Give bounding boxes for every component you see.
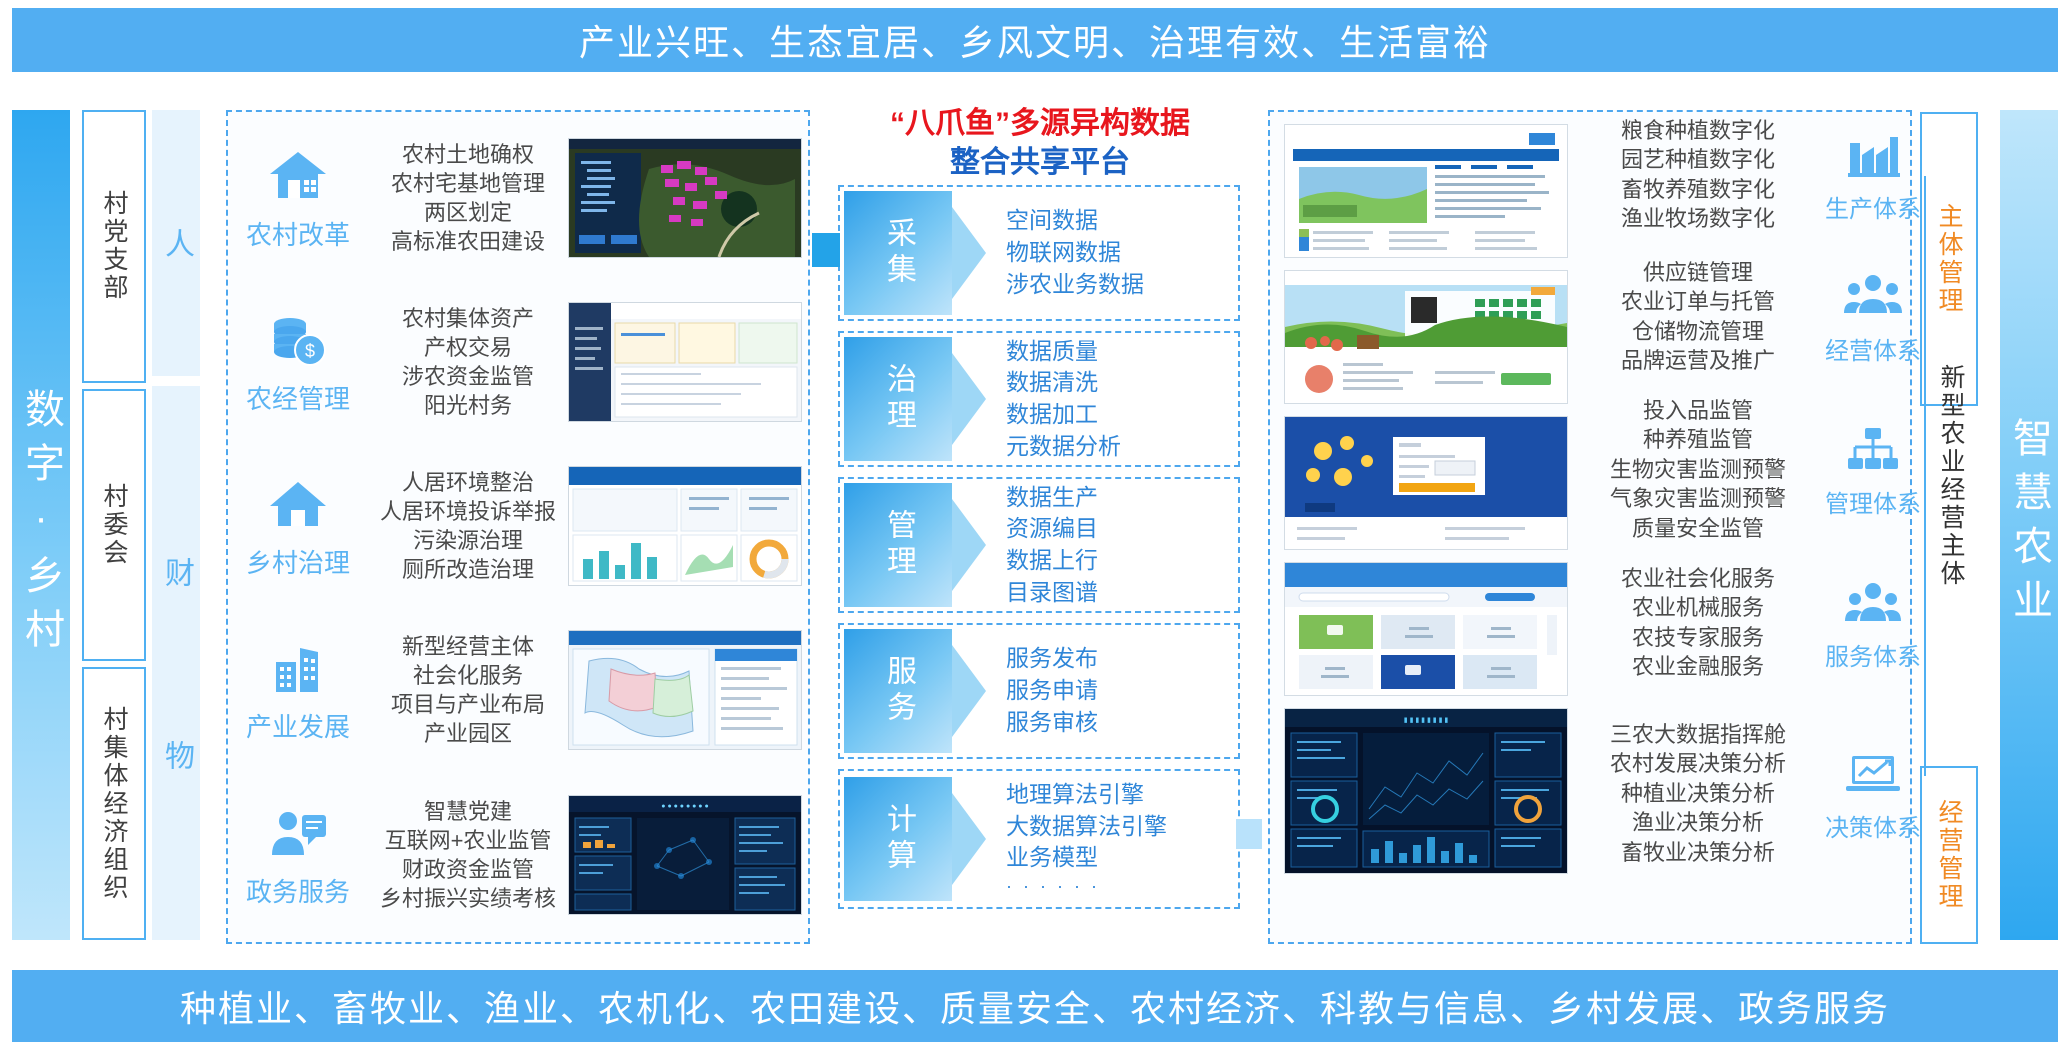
center-platform-panel: 采集 空间数据 物联网数据 涉农业务数据 治理 数据质量 数据清洗 数据加工 元… [838, 185, 1240, 940]
bullet-item: 智慧党建 [368, 797, 568, 826]
people-group-icon [1844, 267, 1902, 325]
svg-text:$: $ [305, 341, 315, 361]
bullet-item: 污染源治理 [368, 526, 568, 555]
row-caption: 乡村治理 [246, 543, 350, 580]
system-text: 三农大数据指挥舱 [1578, 720, 1818, 749]
bullet-item: 项目与产业布局 [368, 690, 568, 719]
system-text: 生物灾害监测预警 [1578, 455, 1818, 484]
bullet-item: 人居环境投诉举报 [368, 497, 568, 526]
stage-item: 数据生产 [1006, 482, 1098, 514]
row-icon-block: 农村改革 [228, 145, 368, 252]
stage-item: 目录图谱 [1006, 577, 1098, 609]
system-text: 农村发展决策分析 [1578, 749, 1818, 778]
row-bullets: 新型经营主体 社会化服务 项目与产业布局 产业园区 [368, 632, 568, 748]
bullet-item: 财政资金监管 [368, 855, 568, 884]
svg-text:▮ ▮ ▮ ▮ ▮ ▮ ▮ ▮: ▮ ▮ ▮ ▮ ▮ ▮ ▮ ▮ [1404, 717, 1449, 724]
bullet-item: 社会化服务 [368, 661, 568, 690]
bullet-item: 互联网+农业监管 [368, 826, 568, 855]
screenshot-big-data-command-dashboard[interactable]: ▮ ▮ ▮ ▮ ▮ ▮ ▮ ▮ [1284, 708, 1568, 874]
bullet-item: 厕所改造治理 [368, 555, 568, 584]
resource-label-finance-assets: 财 物 [152, 386, 200, 940]
stage-item: 地理算法引擎 [1006, 779, 1167, 811]
right-spine-bar: 智慧农业 [2000, 110, 2058, 940]
stage-item: 物联网数据 [1006, 237, 1144, 269]
system-text: 畜牧养殖数字化 [1578, 175, 1818, 204]
stage-chevron: 服务 [844, 629, 952, 753]
screenshot-party-building-dark-dashboard[interactable]: ● ● ● ● ● ● ● ● [568, 795, 802, 915]
system-group-texts: 农业社会化服务 农业机械服务 农技专家服务 农业金融服务 [1578, 564, 1818, 682]
stage-item: 服务发布 [1006, 643, 1098, 675]
buildings-industry-icon [266, 637, 330, 699]
laptop-chart-icon [1844, 744, 1902, 802]
stage-item: 资源编目 [1006, 513, 1098, 545]
org-box-column: 村党支部 村委会 村集体经济组织 [82, 110, 146, 940]
system-icon-block: 服务体系 [1818, 573, 1928, 672]
system-group-texts: 投入品监管 种养殖监管 生物灾害监测预警 气象灾害监测预警 质量安全监管 [1578, 396, 1818, 543]
bullet-item: 两区划定 [368, 198, 568, 227]
system-caption: 服务体系 [1825, 637, 1921, 672]
row-icon-block: 乡村治理 [228, 473, 368, 580]
system-text: 渔业决策分析 [1578, 808, 1818, 837]
bullet-item: 涉农资金监管 [368, 362, 568, 391]
resource-label-people: 人 [152, 110, 200, 376]
system-text: 粮食种植数字化 [1578, 116, 1818, 145]
stage-item: 数据上行 [1006, 545, 1098, 577]
stage-item: 元数据分析 [1006, 431, 1121, 463]
row-caption: 农经管理 [246, 379, 350, 416]
system-text: 农业社会化服务 [1578, 564, 1818, 593]
stage-item: 大数据算法引擎 [1006, 811, 1167, 843]
system-text: 气象灾害监测预警 [1578, 484, 1818, 513]
screenshot-asset-dashboard[interactable] [568, 302, 802, 422]
domain-row-government-service[interactable]: 政务服务 智慧党建 互联网+农业监管 财政资金监管 乡村振兴实绩考核 ● ● ●… [228, 776, 808, 934]
system-group-texts: 三农大数据指挥舱 农村发展决策分析 种植业决策分析 渔业决策分析 畜牧业决策分析 [1578, 720, 1818, 867]
system-text: 农业机械服务 [1578, 593, 1818, 622]
screenshot-governance-chart-dashboard[interactable] [568, 466, 802, 586]
system-text: 供应链管理 [1578, 258, 1818, 287]
stage-item: 服务审核 [1006, 707, 1098, 739]
stage-connector-tab-right [1236, 819, 1262, 849]
system-group-production[interactable]: 粮食种植数字化 园艺种植数字化 畜牧养殖数字化 渔业牧场数字化 生产体系 [1578, 116, 1928, 234]
vbox-new-agri-subject[interactable]: 新型农业经营主体 [1924, 176, 1978, 776]
stage-item: 空间数据 [1006, 205, 1144, 237]
row-icon-block: 政务服务 [228, 802, 368, 909]
system-text: 投入品监管 [1578, 396, 1818, 425]
bullet-item: 阳光村务 [368, 391, 568, 420]
left-spine-bar: 数字·乡村 [12, 110, 70, 940]
row-bullets: 人居环境整治 人居环境投诉举报 污染源治理 厕所改造治理 [368, 468, 568, 584]
vbox-label: 经营管理 [1931, 799, 1967, 911]
domain-row-rural-reform[interactable]: 农村改革 农村土地确权 农村宅基地管理 两区划定 高标准农田建设 [228, 120, 808, 276]
factory-production-icon [1844, 125, 1902, 183]
system-text: 畜牧业决策分析 [1578, 838, 1818, 867]
platform-title-line1: “八爪鱼”多源异构数据 [830, 104, 1250, 143]
stage-item: · · · · · · [1006, 874, 1167, 899]
platform-stage-manage[interactable]: 管理 数据生产 资源编目 数据上行 目录图谱 [838, 477, 1240, 613]
screenshot-service-portal-site[interactable] [1284, 562, 1568, 696]
system-text: 仓储物流管理 [1578, 317, 1818, 346]
system-group-texts: 粮食种植数字化 园艺种植数字化 畜牧养殖数字化 渔业牧场数字化 [1578, 116, 1818, 234]
stage-item: 服务申请 [1006, 675, 1098, 707]
stage-label: 采集 [876, 217, 920, 289]
stage-chevron: 管理 [844, 483, 952, 607]
stage-label: 服务 [876, 655, 920, 727]
screenshot-food-safety-platform[interactable] [1284, 416, 1568, 550]
bullet-item: 产权交易 [368, 333, 568, 362]
bullet-item: 产业园区 [368, 719, 568, 748]
system-text: 种植业决策分析 [1578, 779, 1818, 808]
org-box-village-committee[interactable]: 村委会 [82, 389, 146, 662]
left-spine-label: 数字·乡村 [12, 388, 70, 662]
system-text: 质量安全监管 [1578, 514, 1818, 543]
screenshot-agri-ecommerce-site[interactable] [1284, 270, 1568, 404]
home-governance-icon [266, 473, 330, 535]
row-bullets: 农村集体资产 产权交易 涉农资金监管 阳光村务 [368, 304, 568, 420]
row-bullets: 智慧党建 互联网+农业监管 财政资金监管 乡村振兴实绩考核 [368, 797, 568, 913]
domain-row-industry-development[interactable]: 产业发展 新型经营主体 社会化服务 项目与产业布局 产业园区 [228, 612, 808, 768]
system-caption: 决策体系 [1825, 808, 1921, 843]
system-text: 农技专家服务 [1578, 623, 1818, 652]
bullet-item: 农村土地确权 [368, 140, 568, 169]
bottom-banner: 种植业、畜牧业、渔业、农机化、农田建设、质量安全、农村经济、科教与信息、乡村发展… [12, 970, 2058, 1042]
stage-items: 数据质量 数据清洗 数据加工 元数据分析 [1006, 336, 1121, 463]
right-spine-label: 智慧农业 [2000, 417, 2058, 633]
row-icon-block: 产业发展 [228, 637, 368, 744]
platform-stage-service[interactable]: 服务 服务发布 服务申请 服务审核 [838, 623, 1240, 759]
stage-item: 涉农业务数据 [1006, 269, 1144, 301]
system-icon-block: 管理体系 [1818, 420, 1928, 519]
bullet-item: 人居环境整治 [368, 468, 568, 497]
person-service-icon [266, 802, 330, 864]
platform-stage-govern[interactable]: 治理 数据质量 数据清洗 数据加工 元数据分析 [838, 331, 1240, 467]
system-text: 农业金融服务 [1578, 652, 1818, 681]
stage-chevron: 计算 [844, 777, 952, 901]
system-group-texts: 供应链管理 农业订单与托管 仓储物流管理 品牌运营及推广 [1578, 258, 1818, 376]
stage-items: 空间数据 物联网数据 涉农业务数据 [1006, 205, 1144, 300]
system-group-operation[interactable]: 供应链管理 农业订单与托管 仓储物流管理 品牌运营及推广 经营体系 [1578, 258, 1928, 376]
system-group-decision[interactable]: 三农大数据指挥舱 农村发展决策分析 种植业决策分析 渔业决策分析 畜牧业决策分析… [1578, 720, 1928, 867]
left-domain-panel: 农村改革 农村土地确权 农村宅基地管理 两区划定 高标准农田建设 $ 农经管理 … [226, 110, 810, 944]
house-reform-icon [266, 145, 330, 207]
system-group-management[interactable]: 投入品监管 种养殖监管 生物灾害监测预警 气象灾害监测预警 质量安全监管 管理体… [1578, 396, 1928, 543]
resource-column: 人 财 物 [152, 110, 200, 940]
system-text: 种养殖监管 [1578, 425, 1818, 454]
system-icon-block: 经营体系 [1818, 267, 1928, 366]
org-box-label: 村集体经济组织 [96, 706, 132, 902]
system-icon-block: 生产体系 [1818, 125, 1928, 224]
row-caption: 农村改革 [246, 215, 350, 252]
bullet-item: 农村宅基地管理 [368, 169, 568, 198]
stage-items: 数据生产 资源编目 数据上行 目录图谱 [1006, 482, 1098, 609]
platform-stage-collect[interactable]: 采集 空间数据 物联网数据 涉农业务数据 [838, 185, 1240, 321]
stage-item: 数据质量 [1006, 336, 1121, 368]
stage-label: 治理 [876, 363, 920, 435]
system-text: 农业订单与托管 [1578, 287, 1818, 316]
system-text: 渔业牧场数字化 [1578, 204, 1818, 233]
stage-label: 计算 [876, 803, 920, 875]
org-box-village-party[interactable]: 村党支部 [82, 110, 146, 383]
system-text: 品牌运营及推广 [1578, 346, 1818, 375]
system-caption: 管理体系 [1825, 484, 1921, 519]
org-chart-icon [1844, 420, 1902, 478]
stage-label: 管理 [876, 509, 920, 581]
system-caption: 经营体系 [1825, 331, 1921, 366]
vbox-label: 新型农业经营主体 [1933, 364, 1969, 588]
top-banner: 产业兴旺、生态宜居、乡风文明、治理有效、生活富裕 [12, 8, 2058, 72]
stage-item: 数据加工 [1006, 399, 1121, 431]
platform-stage-compute[interactable]: 计算 地理算法引擎 大数据算法引擎 业务模型 · · · · · · [838, 769, 1240, 909]
service-people-icon [1844, 573, 1902, 631]
org-box-label: 村党支部 [96, 190, 132, 302]
center-platform-title: “八爪鱼”多源异构数据 整合共享平台 [830, 104, 1250, 182]
bullet-item: 新型经营主体 [368, 632, 568, 661]
platform-title-line2: 整合共享平台 [830, 143, 1250, 182]
vbox-operation-management[interactable]: 经营管理 [1920, 766, 1978, 944]
domain-row-rural-economy[interactable]: $ 农经管理 农村集体资产 产权交易 涉农资金监管 阳光村务 [228, 284, 808, 440]
system-text: 园艺种植数字化 [1578, 145, 1818, 174]
screenshot-satellite-parcel-map[interactable] [568, 138, 802, 258]
diagram-canvas: 产业兴旺、生态宜居、乡风文明、治理有效、生活富裕 数字·乡村 村党支部 村委会 … [0, 0, 2070, 1050]
domain-row-rural-governance[interactable]: 乡村治理 人居环境整治 人居环境投诉举报 污染源治理 厕所改造治理 [228, 448, 808, 604]
stage-connector-tab [812, 233, 840, 267]
row-bullets: 农村土地确权 农村宅基地管理 两区划定 高标准农田建设 [368, 140, 568, 256]
stage-items: 地理算法引擎 大数据算法引擎 业务模型 · · · · · · [1006, 779, 1167, 899]
bullet-item: 乡村振兴实绩考核 [368, 884, 568, 913]
stage-items: 服务发布 服务申请 服务审核 [1006, 643, 1098, 738]
row-caption: 政务服务 [246, 872, 350, 909]
system-group-service[interactable]: 农业社会化服务 农业机械服务 农技专家服务 农业金融服务 服务体系 [1578, 564, 1928, 682]
system-icon-block: 决策体系 [1818, 744, 1928, 843]
org-box-label: 村委会 [96, 483, 132, 567]
row-caption: 产业发展 [246, 707, 350, 744]
right-system-panel: ▮ ▮ ▮ ▮ ▮ ▮ ▮ ▮ 粮食种植数字化 园艺种植数字化 畜牧养殖数字化 … [1268, 110, 1912, 944]
svg-text:● ● ● ● ● ● ● ●: ● ● ● ● ● ● ● ● [661, 803, 708, 810]
stage-chevron: 采集 [844, 191, 952, 315]
stage-item: 数据清洗 [1006, 367, 1121, 399]
org-box-collective-economy[interactable]: 村集体经济组织 [82, 667, 146, 940]
screenshot-agri-portal-website[interactable] [1284, 124, 1568, 258]
bullet-item: 高标准农田建设 [368, 227, 568, 256]
row-icon-block: $ 农经管理 [228, 309, 368, 416]
system-caption: 生产体系 [1825, 189, 1921, 224]
coins-money-icon: $ [266, 309, 330, 371]
vbox-divider [1924, 176, 1926, 776]
stage-chevron: 治理 [844, 337, 952, 461]
bullet-item: 农村集体资产 [368, 304, 568, 333]
stage-item: 业务模型 [1006, 842, 1167, 874]
screenshot-industry-map-dashboard[interactable] [568, 630, 802, 750]
